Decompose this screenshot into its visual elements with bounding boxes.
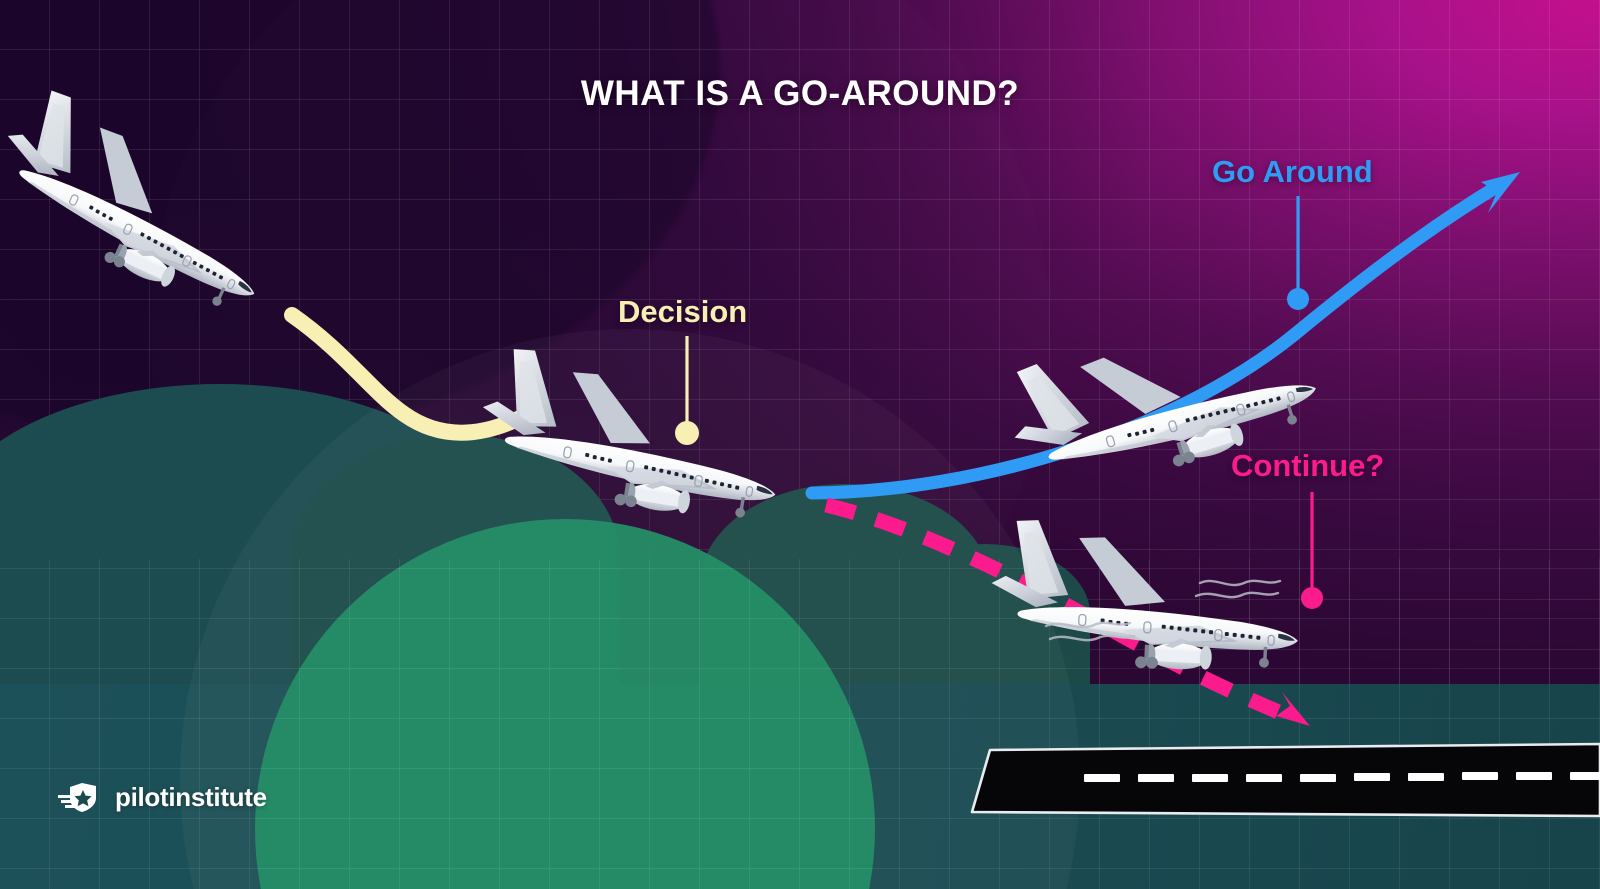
callout-dot-icon (1301, 587, 1323, 609)
callout-dot-icon (675, 421, 699, 445)
diagram-overlay (0, 0, 1600, 889)
aircraft-continuing-landing (988, 518, 1304, 677)
decision-label: Decision (618, 294, 747, 330)
brand-logo[interactable]: pilotinstitute (58, 780, 267, 814)
aircraft-descending-high (0, 80, 297, 324)
continue-leader (1301, 492, 1323, 609)
go-around-label: Go Around (1212, 154, 1373, 190)
descent-path (292, 315, 520, 433)
continue-arrowhead-icon (1276, 692, 1310, 726)
callout-dot-icon (1287, 288, 1309, 310)
aircraft-at-decision-point (471, 344, 792, 529)
runway-icon (972, 744, 1600, 816)
decision-leader (675, 336, 699, 445)
page-title: WHAT IS A GO-AROUND? (0, 74, 1600, 114)
continue-label: Continue? (1231, 448, 1384, 484)
go-around-path (812, 186, 1498, 493)
go-around-leader (1287, 196, 1309, 310)
brand-logo-text: pilotinstitute (115, 782, 267, 813)
infographic-canvas: WHAT IS A GO-AROUND? Decision Go Around … (0, 0, 1600, 889)
winged-shield-star-icon (58, 780, 104, 814)
